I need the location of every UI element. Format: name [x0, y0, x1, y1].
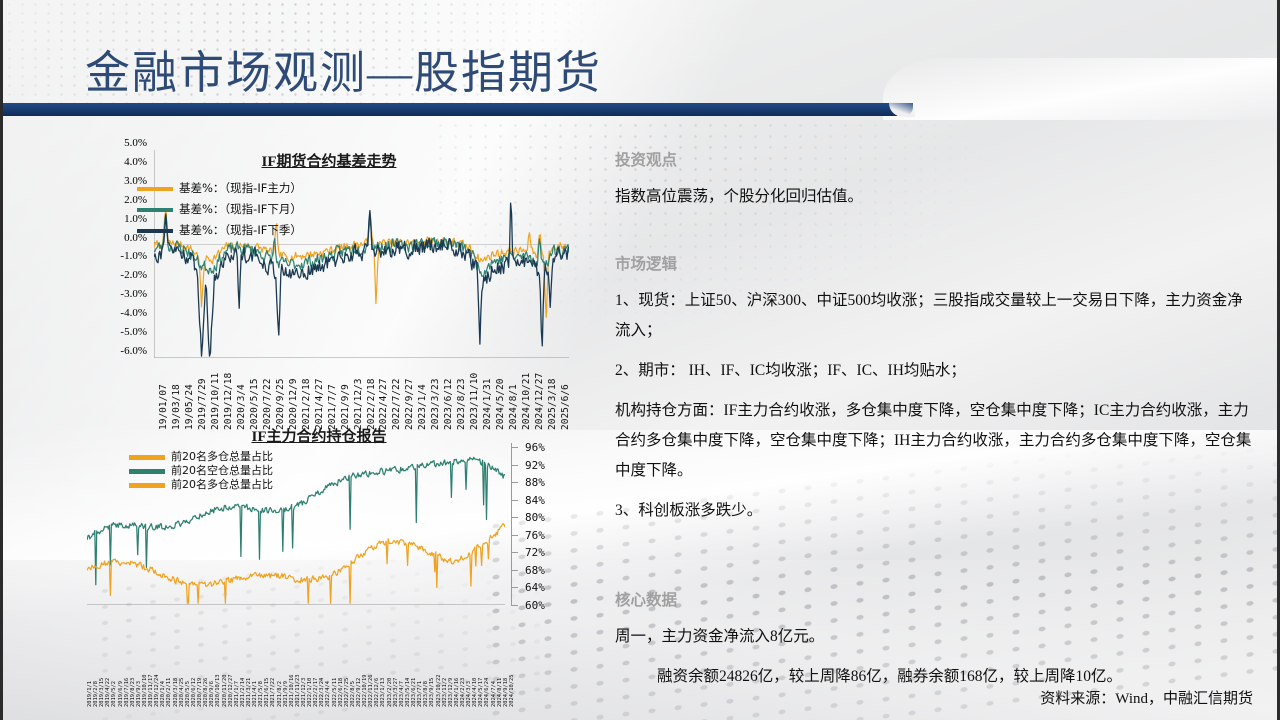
- y-tick-label: -6.0%: [120, 345, 147, 357]
- y-tick-label: 92%: [525, 459, 545, 472]
- x-tick-label: 2020/3/18: [173, 678, 179, 707]
- chart-if-basis-trend: IF期货合约基差走势 5.0%4.0%3.0%2.0%1.0%0.0%-1.0%…: [59, 140, 579, 430]
- x-tick-label: 2023/1/13: [380, 678, 386, 707]
- x-tick-label: 2024/1/31: [482, 379, 493, 430]
- market-logic-item-2: 2、期市： IH、IF、IC均收涨；IF、IC、IH均贴水；: [615, 356, 1255, 386]
- x-tick-label: 19/05/24: [184, 384, 195, 430]
- legend-swatch-long-2: [129, 483, 165, 488]
- legend-item: 基差%：（现指-IF下月）: [137, 199, 302, 220]
- legend-label-long-2: 前20名多仓总量占比: [171, 478, 273, 492]
- y-tick-label: 5.0%: [124, 137, 147, 149]
- x-tick-label: 2023/6/12: [443, 379, 454, 430]
- chart2-title: IF主力合约持仓报告: [169, 425, 469, 446]
- x-tick-label: 2023/11/2: [442, 678, 448, 707]
- legend-item: 基差%：（现指-IF主力）: [137, 178, 302, 199]
- legend-label-series-3: 基差%：（现指-IF下季）: [179, 220, 302, 241]
- x-tick-label: 2024/8/1: [508, 384, 519, 430]
- y-tick-label: 60%: [525, 599, 545, 612]
- y-tick-label: 84%: [525, 494, 545, 507]
- x-tick-label: 2020/2/11: [166, 678, 172, 707]
- market-logic-item-3: 机构持仓方面：IF主力合约收涨，多仓集中度下降，空仓集中度下降；IC主力合约收涨…: [615, 396, 1255, 486]
- x-tick-label: 19/03/18: [171, 384, 182, 430]
- x-tick-label: 2024/7/4: [491, 681, 497, 707]
- x-tick-label: 2024/5/20: [495, 379, 506, 430]
- legend-item: 前20名空仓总量占比: [129, 464, 273, 478]
- y-tick-label: 68%: [525, 564, 545, 577]
- x-tick-label: 2021/2/18: [301, 379, 312, 430]
- y-tick-mark: [511, 570, 518, 571]
- x-tick-label: 2023/3/23: [430, 379, 441, 430]
- x-tick-label: 2022/7/22: [391, 379, 402, 430]
- chart2-axis-line: [511, 443, 512, 605]
- x-tick-label: 2021/8/2: [277, 681, 283, 707]
- x-tick-label: 2020/5/15: [249, 379, 260, 430]
- x-tick-label: 2023/3/27: [393, 678, 399, 707]
- section-heading-investment-view: 投资观点: [615, 148, 1255, 170]
- y-tick-label: 72%: [525, 546, 545, 559]
- legend-label-long-1: 前20名多仓总量占比: [171, 450, 273, 464]
- x-tick-label: 2024/10/25: [509, 675, 515, 707]
- y-tick-label: 80%: [525, 511, 545, 524]
- legend-swatch-long-1: [129, 455, 165, 460]
- chart2-legend: 前20名多仓总量占比 前20名空仓总量占比 前20名多仓总量占比: [129, 450, 273, 492]
- y-tick-mark: [511, 535, 518, 536]
- x-tick-label: 2024/6/24: [484, 678, 490, 707]
- y-tick-mark: [511, 500, 518, 501]
- market-logic-item-4: 3、科创板涨多跌少。: [615, 496, 1255, 526]
- x-tick-label: 2019/10/11: [210, 373, 221, 430]
- x-tick-label: 2019/9/3: [136, 681, 142, 707]
- y-tick-label: 76%: [525, 529, 545, 542]
- y-tick-mark: [511, 587, 518, 588]
- x-tick-label: 2020/11/20: [222, 675, 228, 707]
- x-tick-label: 2023/11/10: [469, 373, 480, 430]
- page-title: 金融市场观测—股指期货: [85, 36, 602, 101]
- slide-root: 金融市场观测—股指期货 IF期货合约基差走势 5.0%4.0%3.0%2.0%1…: [0, 0, 1280, 720]
- chart1-legend: 基差%：（现指-IF主力） 基差%：（现指-IF下月） 基差%：（现指-IF下季…: [137, 178, 302, 241]
- chart1-x-axis-labels: 19/01/0719/03/1819/05/242019/7/292019/10…: [154, 362, 574, 432]
- y-tick-mark: [511, 517, 518, 518]
- x-tick-label: 2022/9/27: [404, 379, 415, 430]
- x-tick-label: 2022/7/25: [344, 678, 350, 707]
- legend-label-series-1: 基差%：（现指-IF主力）: [179, 178, 302, 199]
- y-tick-label: 96%: [525, 441, 545, 454]
- x-tick-label: 2019/12/18: [223, 373, 234, 430]
- y-tick-label: -4.0%: [120, 307, 147, 319]
- x-tick-label: 2024/12/27: [534, 373, 545, 430]
- x-tick-label: 2019/7/16: [124, 678, 130, 707]
- legend-swatch-series-2: [137, 208, 173, 212]
- x-tick-label: 2020/5/5: [185, 681, 191, 707]
- x-tick-label: 2019/7/29: [197, 379, 208, 430]
- y-tick-mark: [511, 482, 518, 483]
- legend-item: 前20名多仓总量占比: [129, 478, 273, 492]
- x-tick-label: 2020/3/4: [236, 384, 247, 430]
- section-heading-core-data: 核心数据: [615, 588, 1255, 610]
- legend-label-series-2: 基差%：（现指-IF下月）: [179, 199, 302, 220]
- x-tick-label: 2025/6/6: [560, 384, 571, 430]
- x-tick-label: 2019/5/2: [111, 681, 117, 707]
- y-tick-mark: [511, 465, 518, 466]
- x-tick-label: 2021/12/3: [353, 379, 364, 430]
- x-tick-label: 2024/9/18: [503, 678, 509, 707]
- market-logic-item-1: 1、现货：上证50、沪深300、中证500均收涨；三股指成交量较上一交易日下降，…: [615, 286, 1255, 346]
- y-tick-label: 88%: [525, 476, 545, 489]
- x-tick-label: 2021/1/7: [234, 681, 240, 707]
- data-series-line: [87, 524, 505, 604]
- x-tick-label: 2021/9/9: [283, 681, 289, 707]
- y-tick-label: -1.0%: [120, 250, 147, 262]
- x-tick-label: 2023/9/15: [429, 678, 435, 707]
- section-heading-market-logic: 市场逻辑: [615, 252, 1255, 274]
- x-tick-label: 2020/10/13: [215, 675, 221, 707]
- legend-item: 前20名多仓总量占比: [129, 450, 273, 464]
- x-tick-label: 2021/7/7: [327, 384, 338, 430]
- legend-swatch-short: [129, 469, 165, 474]
- x-tick-label: 2020/4/25: [179, 678, 185, 707]
- x-tick-label: 2021/7/22: [270, 678, 276, 707]
- x-tick-label: 2022/8/5: [350, 681, 356, 707]
- core-data-line-1: 周一，主力资金净流入8亿元。: [615, 622, 1255, 652]
- spacer: [615, 536, 1255, 588]
- y-tick-label: 64%: [525, 581, 545, 594]
- investment-view-body: 指数高位震荡，个股分化回归估值。: [615, 182, 1255, 212]
- slide-header: 金融市场观测—股指期货: [3, 0, 1280, 118]
- y-tick-label: -2.0%: [120, 269, 147, 281]
- y-tick-mark: [511, 552, 518, 553]
- x-tick-label: 2023/12/9: [448, 678, 454, 707]
- header-swoosh-decoration: [883, 58, 1280, 120]
- chart2-x-axis-labels: 2019/1/12019/2/82019/3/152019/4/222019/5…: [85, 613, 515, 709]
- x-tick-label: 2022/4/4: [325, 681, 331, 707]
- x-tick-label: 2021/10/16: [289, 675, 295, 707]
- y-tick-label: -3.0%: [120, 288, 147, 300]
- x-tick-label: 2020/12/9: [288, 379, 299, 430]
- x-tick-label: 2023/2/20: [387, 678, 393, 707]
- x-tick-label: 2024/10/21: [521, 373, 532, 430]
- source-footer: 资料来源：Wind，中融汇信期货: [1040, 687, 1253, 708]
- x-tick-label: 2024/8/11: [497, 678, 503, 707]
- x-tick-label: 2022/6/18: [338, 678, 344, 707]
- x-tick-label: 2021/9/9: [340, 384, 351, 430]
- spacer: [615, 222, 1255, 252]
- y-tick-label: -5.0%: [120, 326, 147, 338]
- x-tick-label: 2020/7/22: [262, 379, 273, 430]
- x-tick-label: 2019/6/9: [118, 681, 124, 707]
- x-tick-label: 2023/4/7: [399, 681, 405, 707]
- x-tick-label: 2021/2/14: [240, 678, 246, 707]
- y-tick-label: 4.0%: [124, 156, 147, 168]
- x-tick-label: 2022/5/11: [332, 678, 338, 707]
- analysis-panel: 投资观点 指数高位震荡，个股分化回归估值。 市场逻辑 1、现货：上证50、沪深3…: [615, 148, 1255, 702]
- y-tick-mark: [511, 447, 518, 448]
- header-accent-bar: [3, 103, 913, 116]
- x-tick-label: 2021/4/27: [314, 379, 325, 430]
- x-tick-label: 2025/3/18: [547, 379, 558, 430]
- y-tick-mark: [511, 605, 518, 606]
- x-tick-label: 2021/11/23: [295, 675, 301, 707]
- legend-swatch-series-1: [137, 187, 173, 191]
- x-tick-label: 19/01/07: [158, 384, 169, 430]
- x-tick-label: 2022/2/18: [366, 379, 377, 430]
- legend-label-short: 前20名空仓总量占比: [171, 464, 273, 478]
- x-tick-label: 2023/10/22: [436, 675, 442, 707]
- x-tick-label: 2020/9/25: [275, 379, 286, 430]
- x-tick-label: 2024/1/16: [454, 678, 460, 707]
- x-tick-label: 2023/1/4: [417, 384, 428, 430]
- legend-swatch-series-3: [137, 229, 173, 233]
- x-tick-label: 2023/8/23: [456, 379, 467, 430]
- chart-if-position-report: IF主力合约持仓报告 前20名多仓总量占比 前20名空仓总量占比 前20名多仓总…: [59, 425, 579, 720]
- x-tick-label: 2022/4/27: [378, 379, 389, 430]
- x-tick-label: 2019/8/23: [130, 678, 136, 707]
- legend-item: 基差%：（现指-IF下季）: [137, 220, 302, 241]
- x-tick-label: 2020/12/27: [228, 675, 234, 707]
